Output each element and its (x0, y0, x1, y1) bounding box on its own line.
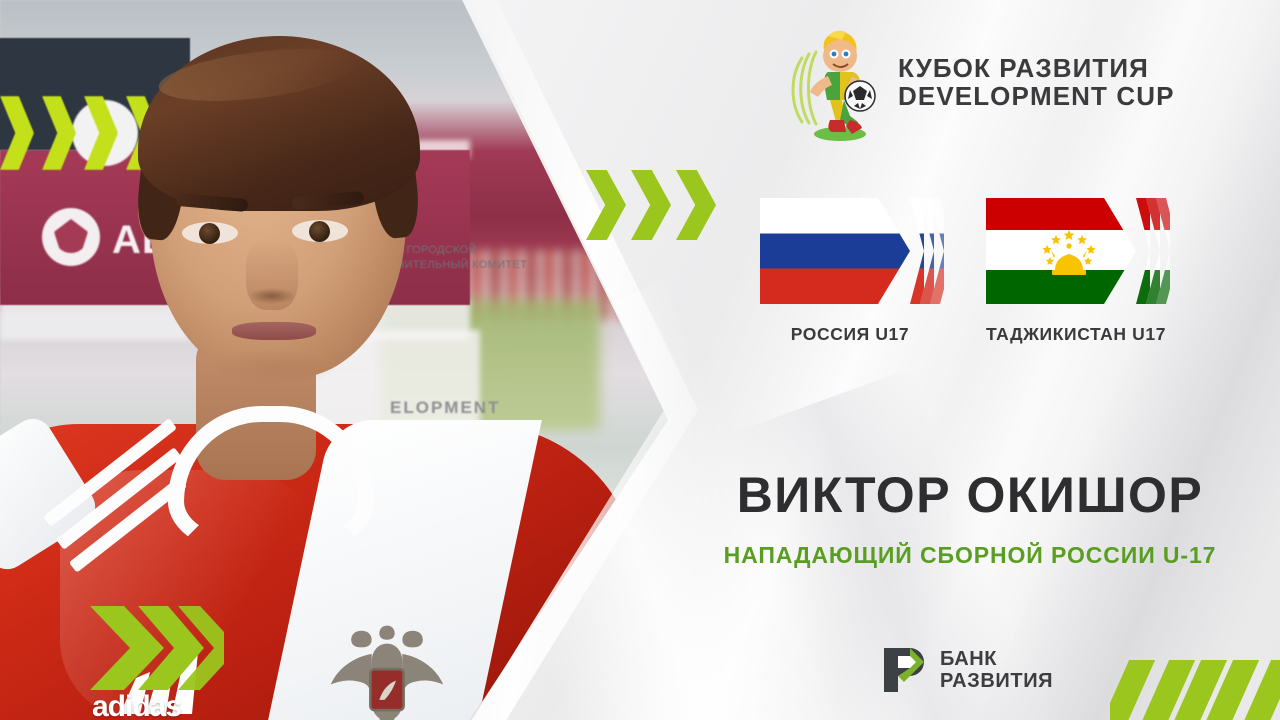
sponsor-line2: РАЗВИТИЯ (940, 670, 1053, 692)
player-name: ВИКТОР ОКИШОР (660, 470, 1280, 520)
sponsor-text: БАНК РАЗВИТИЯ (940, 648, 1053, 692)
player-eye (292, 220, 348, 242)
player-hair (138, 36, 420, 211)
russia-double-eagle-crest-icon (322, 618, 452, 720)
chevron-right-icon (631, 170, 671, 240)
player-eye (182, 222, 238, 244)
bank-r-mark-icon (882, 646, 926, 694)
sponsor-line1: БАНК (940, 648, 1053, 670)
player-identity: ВИКТОР ОКИШОР НАПАДАЮЩИЙ СБОРНОЙ РОССИИ … (660, 470, 1280, 569)
football-boy-mascot-icon (788, 24, 880, 142)
broadcast-lower-third-graphic: АБФФ КИЙ ГОРОДСКОЙОЛНИТЕЛЬНЫЙ КОМИТЕТ EL… (0, 0, 1280, 720)
tajikistan-crown-stars-icon (1036, 226, 1102, 278)
adidas-wordmark: adidas (92, 690, 181, 720)
team-away: ТАДЖИКИСТАН U17 (986, 198, 1166, 345)
player-mouth (232, 322, 316, 340)
team-name-away: ТАДЖИКИСТАН U17 (986, 324, 1166, 345)
player-role: НАПАДАЮЩИЙ СБОРНОЙ РОССИИ U-17 (660, 542, 1280, 569)
match-teams: РОССИЯ U17 (760, 198, 1190, 345)
flag-russia-icon (760, 198, 935, 304)
chevron-right-icon (676, 170, 716, 240)
player-chin (210, 348, 338, 386)
development-cup-logo: КУБОК РАЗВИТИЯ DEVELOPMENT CUP (788, 24, 1175, 142)
logo-title-en: DEVELOPMENT CUP (898, 83, 1175, 111)
player-nose (246, 238, 298, 310)
chevron-right-icon (586, 170, 626, 240)
flag-tajikistan-icon (986, 198, 1161, 304)
chevron-right-icon (88, 604, 224, 692)
accent-chevrons (586, 170, 716, 240)
logo-title-ru: КУБОК РАЗВИТИЯ (898, 55, 1175, 83)
team-home: РОССИЯ U17 (760, 198, 940, 345)
logo-text: КУБОК РАЗВИТИЯ DEVELOPMENT CUP (898, 55, 1175, 110)
diagonal-stripes-icon (1110, 660, 1280, 720)
team-name-home: РОССИЯ U17 (760, 324, 940, 345)
sponsor-logo: БАНК РАЗВИТИЯ (882, 646, 1053, 694)
